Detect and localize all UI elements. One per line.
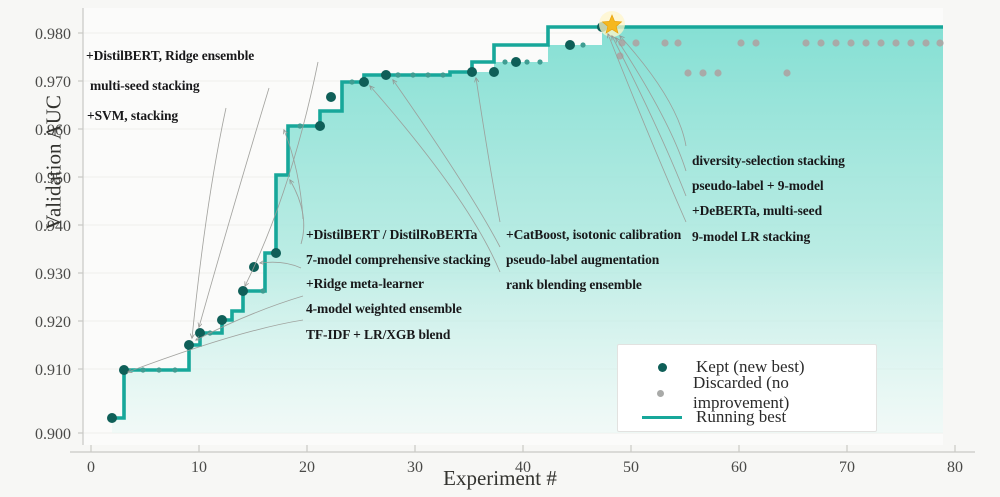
chart-legend: Kept (new best) Discarded (no improvemen… xyxy=(617,344,877,432)
annotation-label: rank blending ensemble xyxy=(506,277,642,293)
y-tick-label: 0.920 xyxy=(35,314,71,331)
annotation-label: +Ridge meta-learner xyxy=(306,276,424,292)
annotation-label: pseudo-label + 9-model xyxy=(692,178,824,194)
y-axis-ticks xyxy=(78,33,83,433)
annotation-label: TF-IDF + LR/XGB blend xyxy=(306,327,450,343)
chart-stage: 0.980 0.970 0.960 0.950 0.940 0.930 0.92… xyxy=(0,0,1000,497)
annotation-label: diversity-selection stacking xyxy=(692,153,845,169)
annotation-label: +DistilBERT, Ridge ensemble xyxy=(86,48,254,64)
annotation-label: +DeBERTa, multi-seed xyxy=(692,203,822,219)
x-axis-label: Experiment # xyxy=(0,466,1000,491)
y-axis-label: Validation AUC xyxy=(42,13,67,313)
kept-dot-icon xyxy=(640,363,684,372)
annotation-label: +DistilBERT / DistilRoBERTa xyxy=(306,227,477,243)
annotation-label: 7-model comprehensive stacking xyxy=(306,252,490,268)
annotation-label: 4-model weighted ensemble xyxy=(306,301,462,317)
legend-item-running-best: Running best xyxy=(640,405,786,429)
legend-item-discarded: Discarded (no improvement) xyxy=(640,381,876,405)
x-axis-ticks xyxy=(91,445,955,452)
annotation-label: +SVM, stacking xyxy=(87,108,178,124)
legend-label: Running best xyxy=(696,407,786,427)
annotation-label: pseudo-label augmentation xyxy=(506,252,659,268)
annotation-label: +CatBoost, isotonic calibration xyxy=(506,227,681,243)
y-tick-label: 0.910 xyxy=(35,362,71,379)
y-tick-label: 0.900 xyxy=(35,426,71,443)
annotation-label: 9-model LR stacking xyxy=(692,229,810,245)
best-star-marker xyxy=(599,11,625,37)
running-best-line-icon xyxy=(640,416,684,419)
discarded-dot-icon xyxy=(640,390,681,397)
annotation-label: multi-seed stacking xyxy=(90,78,199,94)
